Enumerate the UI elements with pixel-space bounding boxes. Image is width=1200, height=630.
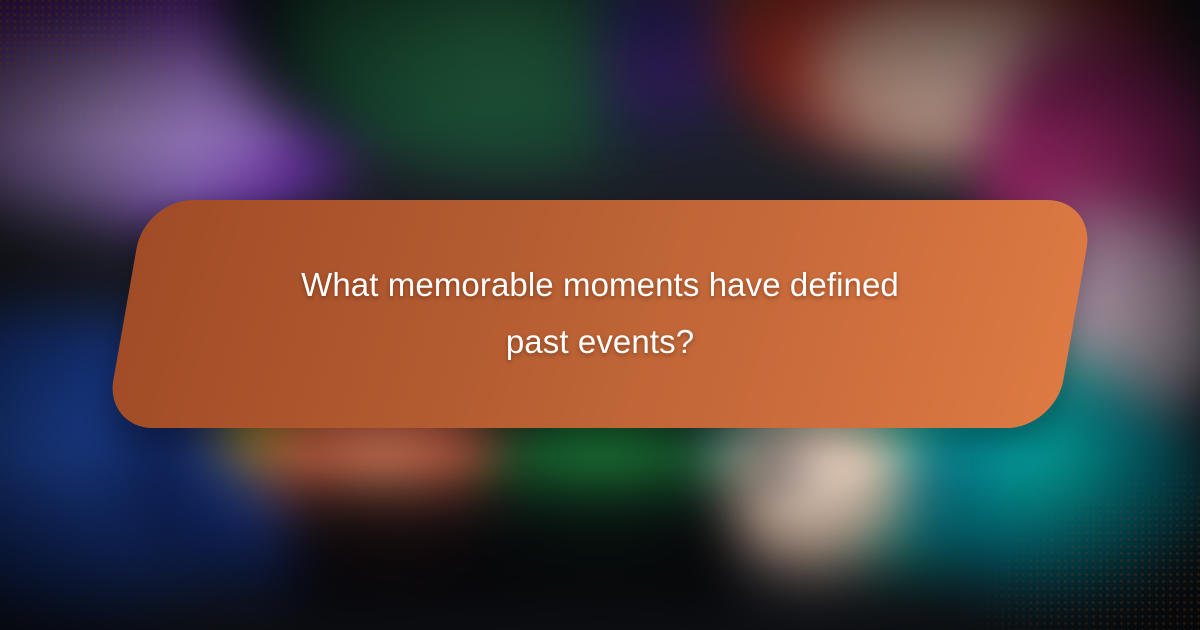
- background-blob-eye: [749, 437, 801, 489]
- screenshot-canvas: What memorable moments have defined past…: [0, 0, 1200, 630]
- question-card-banner[interactable]: [105, 200, 1095, 428]
- background-blob-black-bar: [287, 482, 741, 612]
- background-blob-navy-strip: [600, 0, 719, 148]
